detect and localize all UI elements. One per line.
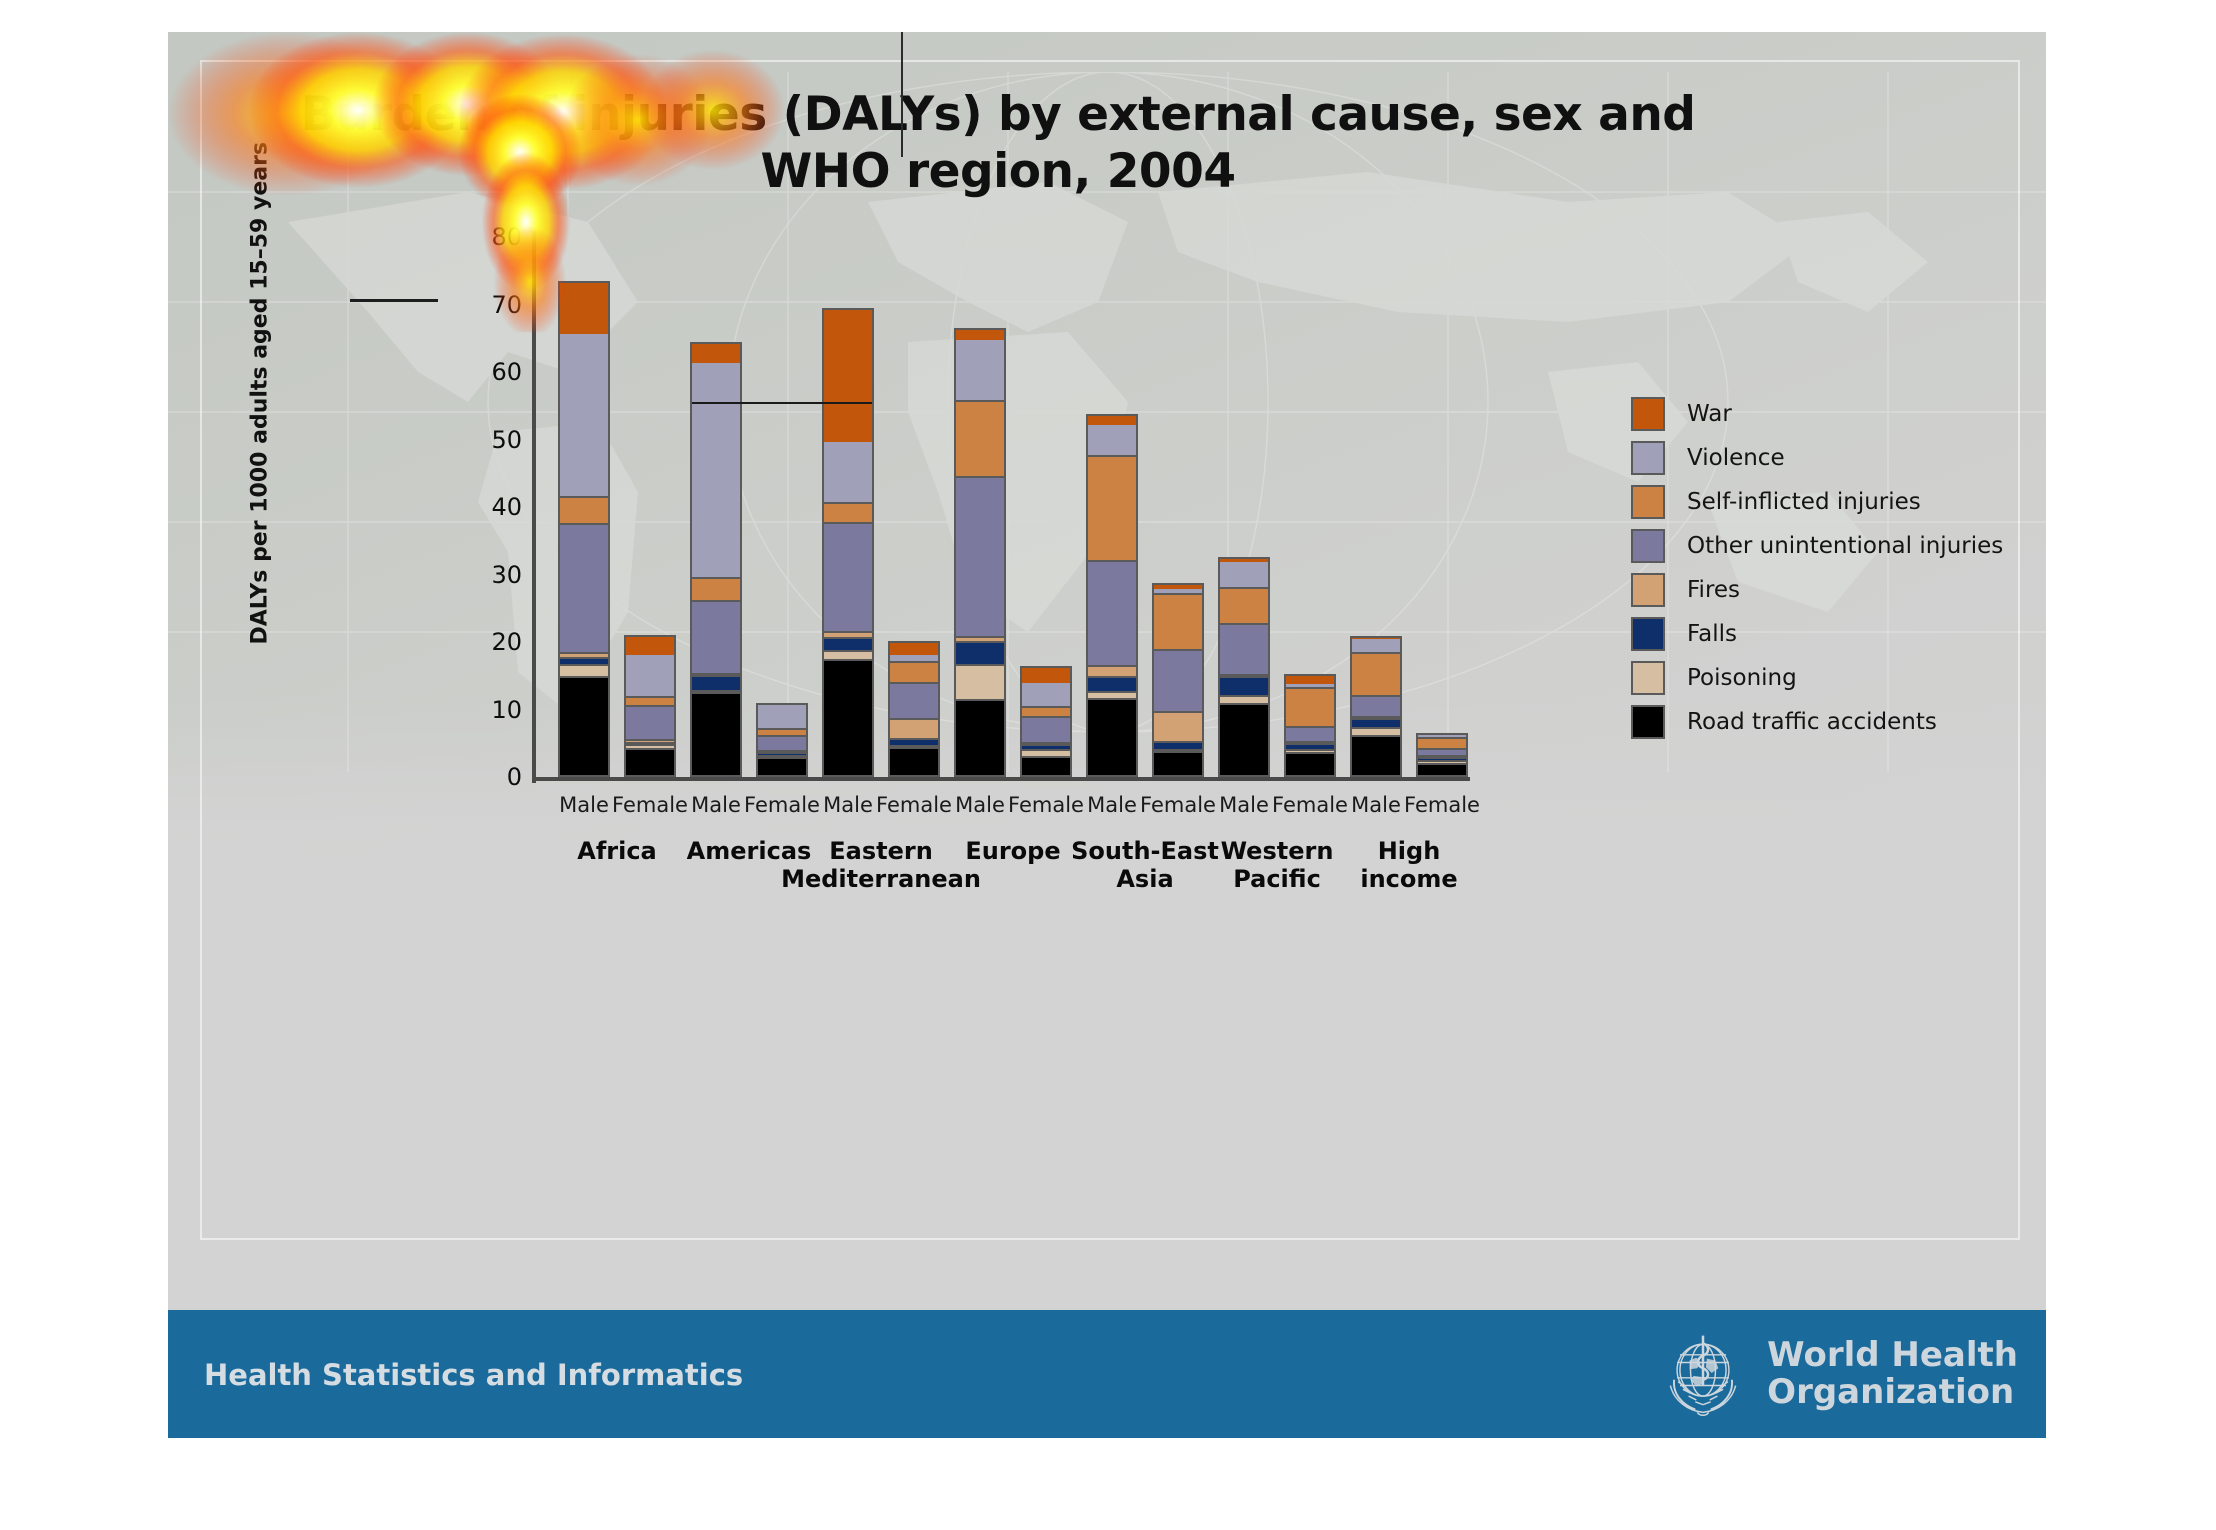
bar-segment — [824, 652, 872, 661]
bar-segment — [692, 363, 740, 580]
bar-segment — [824, 310, 872, 442]
bar-high-income-male — [1350, 636, 1402, 777]
bar-segment — [1286, 728, 1334, 743]
bar-segment — [890, 655, 938, 663]
x-axis-sex-label: Female — [876, 793, 952, 817]
who-logo-lockup: World Health Organization — [1655, 1326, 2018, 1422]
y-axis-tick-label: 10 — [491, 696, 522, 724]
x-axis-sex-label: Male — [1087, 793, 1137, 817]
bar-segment — [1154, 595, 1202, 652]
annotation-vertical-line — [901, 32, 903, 157]
bar-segment — [692, 344, 740, 362]
x-axis-region-label: High income — [1360, 837, 1457, 894]
legend-item: War — [1631, 392, 2003, 436]
x-axis-line — [532, 777, 1470, 781]
bar-segment — [1022, 751, 1070, 758]
bar-segment — [956, 340, 1004, 402]
bar-segment — [1220, 697, 1268, 704]
bar-segment — [1352, 737, 1400, 777]
legend-item: Road traffic accidents — [1631, 700, 2003, 744]
slide-canvas: Burden of injuries (DALYs) by external c… — [0, 0, 2216, 1530]
y-axis-tick-label: 0 — [507, 763, 522, 791]
who-organization-name: World Health Organization — [1767, 1337, 2018, 1410]
bar-segment — [692, 602, 740, 676]
annotation-rule-chart — [692, 402, 872, 404]
bar-segment — [1022, 758, 1070, 777]
legend-item-label: Poisoning — [1687, 665, 1797, 691]
y-axis-line — [532, 231, 536, 783]
bar-segment — [1352, 639, 1400, 655]
slide-title: Burden of injuries (DALYs) by external c… — [288, 86, 1708, 201]
bar-segment — [956, 666, 1004, 701]
bar-segment — [956, 643, 1004, 667]
slide-panel: Burden of injuries (DALYs) by external c… — [168, 32, 2046, 1310]
bar-africa-female — [624, 635, 676, 777]
bar-segment — [560, 678, 608, 777]
bar-segment — [1220, 562, 1268, 590]
x-axis-sex-label: Male — [1351, 793, 1401, 817]
legend-swatch-icon — [1631, 617, 1665, 651]
bar-segment — [1088, 693, 1136, 700]
legend-item: Violence — [1631, 436, 2003, 480]
bar-segment — [1286, 754, 1334, 777]
bar-eastern-mediterranean-male — [822, 308, 874, 777]
bar-south-east-asia-male — [1086, 414, 1138, 777]
y-axis-tick-label: 70 — [491, 291, 522, 319]
x-axis-sex-label: Female — [1404, 793, 1480, 817]
bar-segment — [758, 737, 806, 753]
legend-swatch-icon — [1631, 705, 1665, 739]
bar-western-pacific-male — [1218, 557, 1270, 777]
legend-item-label: Violence — [1687, 445, 1785, 471]
legend-item-label: Other unintentional injuries — [1687, 533, 2003, 559]
bar-segment — [1022, 718, 1070, 744]
bar-segment — [758, 705, 806, 730]
legend-swatch-icon — [1631, 397, 1665, 431]
x-axis-sex-label: Male — [1219, 793, 1269, 817]
who-emblem-icon — [1655, 1326, 1751, 1422]
bar-segment — [1154, 713, 1202, 743]
legend-item-label: Road traffic accidents — [1687, 709, 1937, 735]
annotation-rule-left — [350, 299, 438, 302]
plot-area: 01020304050607080MaleFemaleAfricaMaleFem… — [536, 237, 1466, 777]
legend-item-label: Falls — [1687, 621, 1737, 647]
bar-segment — [692, 677, 740, 692]
x-axis-region-label: Western Pacific — [1183, 837, 1372, 894]
bar-segment — [1088, 700, 1136, 777]
x-axis-region-label: Eastern Mediterranean — [781, 837, 981, 894]
bar-segment — [560, 525, 608, 654]
y-axis-tick-label: 40 — [491, 493, 522, 521]
bar-segment — [1220, 678, 1268, 697]
bar-segment — [626, 750, 674, 777]
bar-segment — [956, 402, 1004, 478]
bar-segment — [824, 524, 872, 633]
legend-swatch-icon — [1631, 441, 1665, 475]
bar-segment — [1220, 705, 1268, 777]
bar-segment — [1352, 697, 1400, 718]
bar-segment — [692, 579, 740, 601]
legend-swatch-icon — [1631, 573, 1665, 607]
x-axis-sex-label: Female — [612, 793, 688, 817]
legend-swatch-icon — [1631, 529, 1665, 563]
legend-item: Other unintentional injuries — [1631, 524, 2003, 568]
bar-segment — [1088, 678, 1136, 693]
y-axis-tick-label: 50 — [491, 426, 522, 454]
x-axis-region-label: Europe — [965, 837, 1060, 865]
bar-segment — [824, 639, 872, 653]
bar-segment — [956, 330, 1004, 341]
x-axis-sex-label: Male — [691, 793, 741, 817]
x-axis-sex-label: Male — [559, 793, 609, 817]
bar-segment — [1088, 416, 1136, 425]
bar-segment — [824, 661, 872, 777]
bar-segment — [1088, 425, 1136, 457]
bar-segment — [1154, 753, 1202, 777]
bar-segment — [560, 666, 608, 678]
bar-europe-male — [954, 328, 1006, 777]
bar-segment — [956, 701, 1004, 777]
bar-segment — [1418, 739, 1466, 750]
legend-item-label: Self-inflicted injuries — [1687, 489, 1921, 515]
bar-europe-female — [1020, 666, 1072, 777]
bar-segment — [1088, 457, 1136, 562]
chart-legend: WarViolenceSelf-inflicted injuriesOther … — [1631, 392, 2003, 744]
bar-segment — [1352, 654, 1400, 697]
bar-segment — [560, 659, 608, 666]
bar-segment — [1022, 683, 1070, 708]
bar-segment — [956, 478, 1004, 638]
bar-segment — [1220, 625, 1268, 676]
bar-segment — [626, 655, 674, 698]
legend-item-label: Fires — [1687, 577, 1740, 603]
legend-item: Self-inflicted injuries — [1631, 480, 2003, 524]
bar-segment — [560, 498, 608, 525]
bar-africa-male — [558, 281, 610, 777]
y-axis-tick-label: 20 — [491, 628, 522, 656]
x-axis-sex-label: Female — [1140, 793, 1216, 817]
bar-segment — [758, 759, 806, 777]
bar-segment — [1352, 729, 1400, 737]
y-axis-tick-label: 80 — [491, 223, 522, 251]
x-axis-sex-label: Female — [1008, 793, 1084, 817]
bar-segment — [1088, 667, 1136, 678]
bar-segment — [626, 637, 674, 655]
legend-swatch-icon — [1631, 661, 1665, 695]
bar-high-income-female — [1416, 733, 1468, 777]
x-axis-sex-label: Male — [823, 793, 873, 817]
bar-segment — [1088, 562, 1136, 667]
legend-item: Poisoning — [1631, 656, 2003, 700]
bar-segment — [1220, 589, 1268, 625]
bar-segment — [890, 684, 938, 720]
bar-segment — [890, 643, 938, 654]
bar-segment — [1352, 720, 1400, 729]
bar-segment — [1022, 708, 1070, 717]
bar-segment — [626, 707, 674, 741]
footer-bar: Health Statistics and Informatics — [168, 1310, 2046, 1438]
bar-segment — [1418, 765, 1466, 777]
bar-americas-female — [756, 703, 808, 777]
bar-segment — [692, 694, 740, 777]
bar-segment — [890, 720, 938, 740]
bar-segment — [824, 504, 872, 524]
bar-segment — [890, 740, 938, 747]
x-axis-sex-label: Male — [955, 793, 1005, 817]
y-axis-title: DALYs per 1000 adults aged 15–59 years — [248, 305, 273, 645]
bar-segment — [1154, 651, 1202, 712]
x-axis-region-label: Africa — [577, 837, 657, 865]
bar-segment — [890, 749, 938, 777]
bar-americas-male — [690, 342, 742, 777]
legend-item: Falls — [1631, 612, 2003, 656]
bar-segment — [1022, 668, 1070, 684]
x-axis-sex-label: Female — [1272, 793, 1348, 817]
bar-segment — [1418, 750, 1466, 757]
bar-segment — [824, 442, 872, 504]
bar-segment — [1286, 676, 1334, 684]
y-axis-tick-label: 60 — [491, 358, 522, 386]
bar-segment — [758, 730, 806, 737]
bar-segment — [560, 283, 608, 334]
bar-segment — [890, 663, 938, 684]
bar-south-east-asia-female — [1152, 583, 1204, 777]
legend-item-label: War — [1687, 401, 1732, 427]
bar-segment — [626, 698, 674, 707]
legend-swatch-icon — [1631, 485, 1665, 519]
bar-eastern-mediterranean-female — [888, 641, 940, 777]
y-axis-tick-label: 30 — [491, 561, 522, 589]
bar-western-pacific-female — [1284, 674, 1336, 777]
x-axis-sex-label: Female — [744, 793, 820, 817]
legend-item: Fires — [1631, 568, 2003, 612]
bar-segment — [1154, 743, 1202, 751]
footer-department-label: Health Statistics and Informatics — [204, 1358, 743, 1392]
bar-segment — [560, 334, 608, 498]
bar-segment — [1286, 689, 1334, 728]
